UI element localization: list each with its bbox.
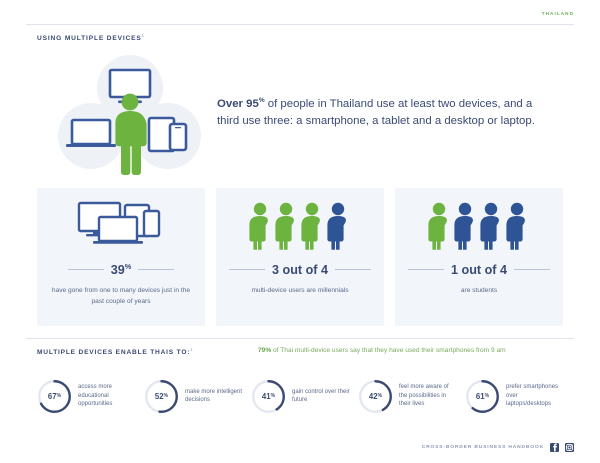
infographic-page: THAILAND USING MULTIPLE DEVICES1 [0,0,600,463]
person-figure-blue [327,203,346,250]
card-value: 1 out of 4 [451,262,507,277]
bottom-note-value: 79% [258,347,271,354]
card-divider-row: 1 out of 4 [395,262,563,277]
card-divider-row: 3 out of 4 [216,262,384,277]
donut-value-number: 61 [476,392,485,401]
stat-card-students: 1 out of 4 are students [395,188,563,326]
donut-value: 42% [357,378,394,415]
donut-stat-item: 42% feel more aware of the possibilities… [357,378,457,415]
donut-chart: 67% [36,378,73,415]
stat-card-millennials: 3 out of 4 multi-device users are millen… [216,188,384,326]
card-value: 39% [111,262,132,277]
person-figure-blue [480,203,499,250]
donut-label: feel more aware of the possibilities in … [399,383,457,408]
donut-chart: 52% [143,378,180,415]
donut-stat-item: 61% prefer smartphones over laptops/desk… [464,378,564,415]
donut-label: access more educational opportunities [78,383,136,408]
bottom-section-title: MULTIPLE DEVICES ENABLE THAIS TO:1 [37,347,193,356]
donut-value-number: 67 [48,392,57,401]
bottom-note: 79% of Thai multi-device users say that … [258,347,506,354]
headline-lead: Over 95 [217,98,259,110]
donut-value: 67% [36,378,73,415]
divider-right [335,269,371,270]
card-value-number: 1 out of 4 [451,263,507,277]
donut-chart: 41% [250,378,287,415]
person-figure-green [301,203,320,250]
donut-value-number: 52 [155,392,164,401]
bottom-note-rest: of Thai multi-device users say that they… [271,347,505,354]
person-figure-green [275,203,294,250]
donut-stat-item: 67% access more educational opportunitie… [36,378,136,415]
monitor-icon [110,70,150,97]
person-figure-blue [506,203,525,250]
section-title-superscript: 1 [142,33,145,38]
divider-left [68,269,104,270]
footer: CROSS-BORDER BUSINESS HANDBOOK [422,443,574,452]
headline: Over 95% of people in Thailand use at le… [217,92,547,130]
donut-label: prefer smartphones over laptops/desktops [506,383,564,408]
footer-text: CROSS-BORDER BUSINESS HANDBOOK [422,445,544,450]
section-title: USING MULTIPLE DEVICES1 [37,33,145,42]
top-divider [26,24,574,25]
stat-cards: 39% have gone from one to many devices j… [37,188,563,326]
laptop-icon [66,120,116,147]
divider-right [514,269,550,270]
donut-value: 41% [250,378,287,415]
donut-value: 61% [464,378,501,415]
multi-device-stack-icon [37,188,205,262]
divider-left [408,269,444,270]
donut-value-superscript: % [271,393,275,399]
card-description: multi-device users are millennials [225,286,375,296]
card-divider-row: 39% [37,262,205,277]
donut-value-number: 41 [262,392,271,401]
donut-chart: 42% [357,378,394,415]
bottom-section-title-superscript: 1 [190,347,193,352]
bottom-section-title-text: MULTIPLE DEVICES ENABLE THAIS TO: [37,349,190,356]
person-figure-green [428,203,447,250]
donut-chart: 61% [464,378,501,415]
donut-label: gain control over their future [292,388,350,405]
people-row-icon [395,188,563,262]
donut-value-superscript: % [378,393,382,399]
card-value-superscript: % [125,262,132,271]
donut-value-superscript: % [57,393,61,399]
donut-stat-item: 41% gain control over their future [250,378,350,415]
card-value-number: 3 out of 4 [272,263,328,277]
donut-stats: 67% access more educational opportunitie… [36,370,564,422]
hero-svg [48,52,213,182]
bottom-divider [26,338,574,339]
headline-rest: of people in Thailand use at least two d… [217,98,535,127]
donut-label: make more intelligent decisions [185,388,243,405]
card-value-number: 39 [111,263,125,277]
card-description: are students [404,286,554,296]
person-figure-blue [454,203,473,250]
donut-value: 52% [143,378,180,415]
stat-card-devices: 39% have gone from one to many devices j… [37,188,205,326]
divider-right [138,269,174,270]
tablet-phone-icon [149,118,186,151]
instagram-icon[interactable] [565,443,574,452]
divider-left [229,269,265,270]
donut-value-number: 42 [369,392,378,401]
card-description: have gone from one to many devices just … [46,286,196,307]
donut-value-superscript: % [164,393,168,399]
section-title-text: USING MULTIPLE DEVICES [37,35,142,42]
card-value: 3 out of 4 [272,262,328,277]
hero-illustration [48,52,213,182]
person-figure-green [249,203,268,250]
donut-stat-item: 52% make more intelligent decisions [143,378,243,415]
people-row-icon [216,188,384,262]
facebook-icon[interactable] [550,443,559,452]
country-label: THAILAND [542,11,574,16]
donut-value-superscript: % [485,393,489,399]
